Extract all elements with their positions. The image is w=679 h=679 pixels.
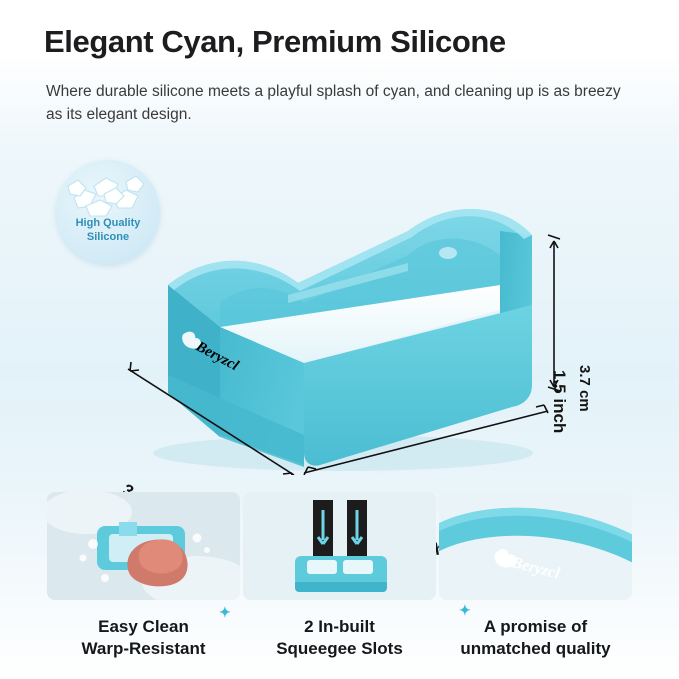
page-title: Elegant Cyan, Premium Silicone bbox=[44, 24, 644, 61]
dimension-height-cm: 3.7 cm bbox=[576, 365, 593, 412]
feature-strip: Easy Clean Warp-Resistant ✦ bbox=[0, 492, 679, 679]
feature-card-squeegee-slots: 2 In-built Squeegee Slots bbox=[243, 492, 436, 660]
feature-caption-line2: Warp-Resistant bbox=[81, 639, 205, 658]
product-image-sponge-holder: Beryzcl bbox=[108, 135, 578, 475]
page-subtitle: Where durable silicone meets a playful s… bbox=[46, 80, 636, 127]
feature-caption-squeegee-slots: 2 In-built Squeegee Slots bbox=[243, 616, 436, 660]
feature-caption-line2: Squeegee Slots bbox=[276, 639, 403, 658]
feature-card-easy-clean: Easy Clean Warp-Resistant ✦ bbox=[47, 492, 240, 660]
feature-caption-line1: Easy Clean bbox=[98, 617, 189, 636]
feature-image-quality-promise: Beryzcl bbox=[439, 492, 632, 600]
product-infographic: Elegant Cyan, Premium Silicone Where dur… bbox=[0, 0, 679, 679]
feature-caption-quality-promise: A promise of unmatched quality bbox=[439, 616, 632, 660]
feature-image-squeegee-slots bbox=[243, 492, 436, 600]
feature-image-easy-clean bbox=[47, 492, 240, 600]
sparkle-icon: ✦ bbox=[219, 604, 231, 621]
sparkle-icon: ✦ bbox=[459, 602, 471, 619]
hero-product-section: High Quality Silicone bbox=[0, 130, 679, 490]
feature-caption-line1: 2 In-built bbox=[304, 617, 375, 636]
feature-caption-easy-clean: Easy Clean Warp-Resistant bbox=[47, 616, 240, 660]
feature-caption-line2: unmatched quality bbox=[460, 639, 610, 658]
feature-card-quality-promise: Beryzcl A promise of unmatched quality ✦ bbox=[439, 492, 632, 660]
dimension-height-inch: 1.5 inch bbox=[549, 370, 569, 433]
feature-caption-line1: A promise of bbox=[484, 617, 587, 636]
